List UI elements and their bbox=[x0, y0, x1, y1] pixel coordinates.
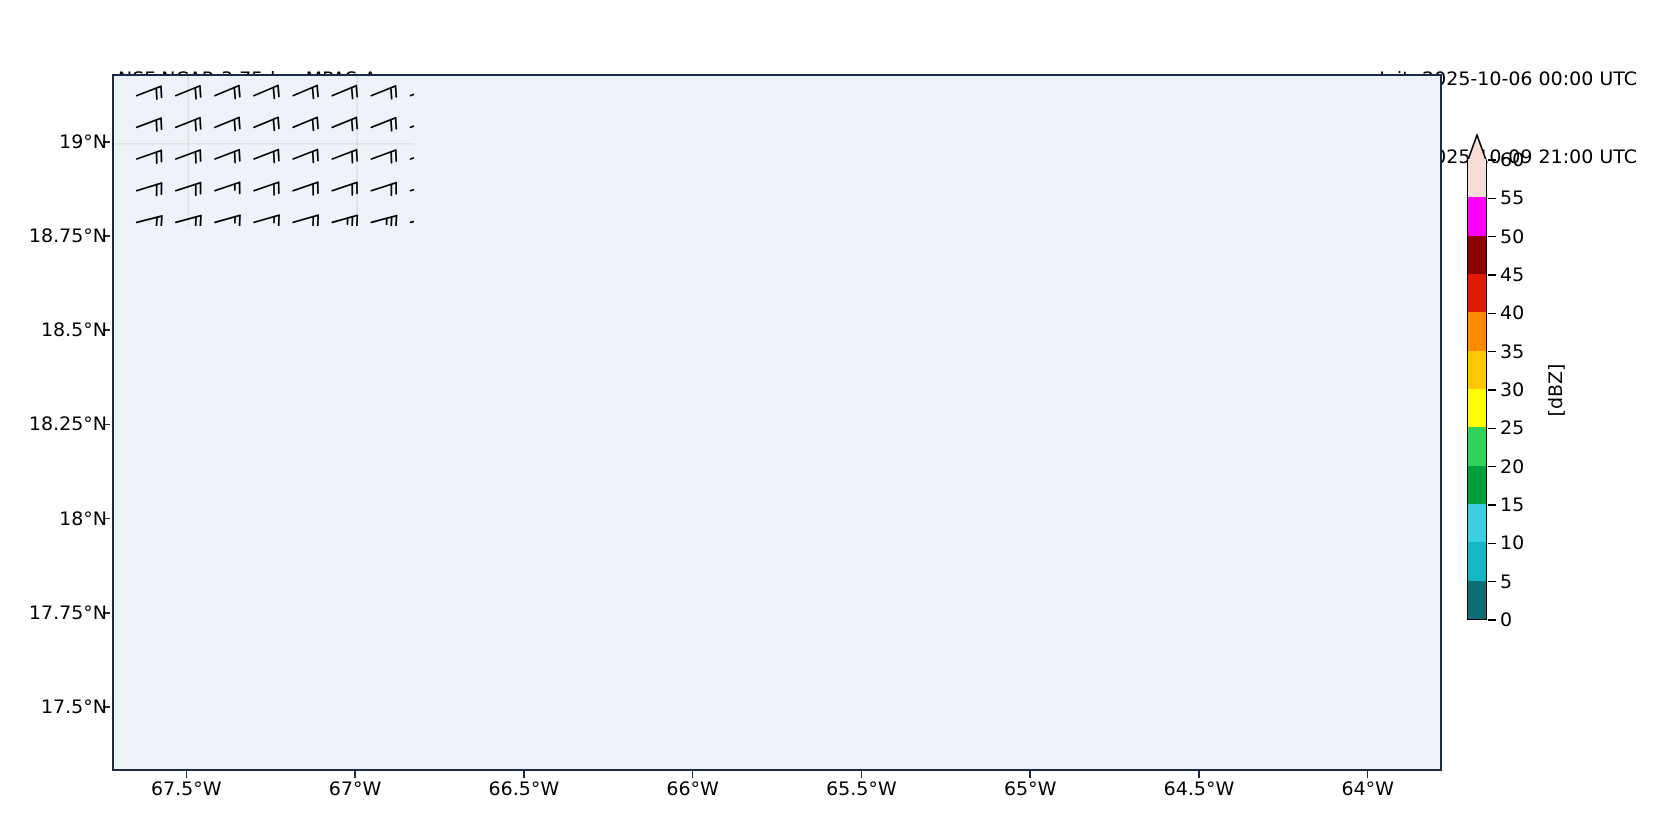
x-axis-tick bbox=[1367, 771, 1369, 778]
wind-barb bbox=[332, 215, 357, 226]
colorbar-tick bbox=[1488, 504, 1496, 506]
wind-barb bbox=[371, 118, 396, 131]
y-axis-label: 17.5°N bbox=[41, 696, 107, 718]
colorbar-tick-label: 25 bbox=[1500, 417, 1524, 439]
wind-barb bbox=[411, 151, 414, 164]
colorbar-tick-label: 20 bbox=[1500, 456, 1524, 478]
x-axis-label: 67°W bbox=[329, 778, 381, 800]
wind-barb bbox=[371, 216, 396, 226]
colorbar-tick bbox=[1488, 198, 1496, 200]
colorbar-tick bbox=[1488, 389, 1496, 391]
x-axis-tick bbox=[1198, 771, 1200, 778]
colorbar-segment bbox=[1468, 351, 1486, 389]
y-axis-label: 18.75°N bbox=[29, 225, 107, 247]
wind-barb bbox=[293, 182, 318, 195]
x-axis-label: 67.5°W bbox=[151, 778, 222, 800]
wind-barb bbox=[332, 150, 357, 163]
x-axis-tick bbox=[861, 771, 863, 778]
colorbar-tick-label: 35 bbox=[1500, 341, 1524, 363]
colorbar-tick bbox=[1488, 581, 1496, 583]
colorbar-tick bbox=[1488, 466, 1496, 468]
wind-barb bbox=[371, 86, 396, 99]
wind-barb bbox=[411, 183, 414, 195]
colorbar-tick-label: 40 bbox=[1500, 302, 1524, 324]
wind-barb bbox=[176, 118, 201, 131]
x-axis-label: 64°W bbox=[1342, 778, 1394, 800]
wind-barb bbox=[215, 150, 240, 163]
x-axis-tick bbox=[354, 771, 356, 778]
wind-barb bbox=[137, 150, 162, 163]
colorbar-tick bbox=[1488, 313, 1496, 315]
colorbar-tick bbox=[1488, 543, 1496, 545]
wind-barb bbox=[411, 216, 414, 226]
colorbar-tick-label: 0 bbox=[1500, 609, 1512, 631]
wind-barb bbox=[176, 150, 201, 163]
colorbar-segment bbox=[1468, 581, 1486, 619]
wind-barb bbox=[293, 86, 318, 99]
map-plot-area[interactable] bbox=[112, 74, 1442, 771]
colorbar-tick bbox=[1488, 428, 1496, 430]
colorbar-over-arrow bbox=[1467, 134, 1487, 161]
x-axis-label: 65°W bbox=[1004, 778, 1056, 800]
colorbar-tick-label: 50 bbox=[1500, 226, 1524, 248]
wind-barb bbox=[215, 86, 240, 99]
x-axis-tick bbox=[1029, 771, 1031, 778]
colorbar-segment bbox=[1468, 466, 1486, 504]
x-axis-label: 65.5°W bbox=[826, 778, 897, 800]
y-axis-label: 18.5°N bbox=[41, 319, 107, 341]
colorbar-tick-label: 55 bbox=[1500, 187, 1524, 209]
colorbar-segment bbox=[1468, 159, 1486, 197]
wind-barb bbox=[215, 182, 240, 193]
wind-barb bbox=[332, 118, 357, 131]
y-axis-label: 18.25°N bbox=[29, 413, 107, 435]
colorbar-tick bbox=[1488, 236, 1496, 238]
wind-barb bbox=[332, 182, 357, 195]
wind-barb bbox=[293, 150, 318, 163]
x-axis-tick bbox=[523, 771, 525, 778]
colorbar-tick bbox=[1488, 274, 1496, 276]
wind-barb-field bbox=[114, 76, 414, 226]
y-axis-label: 18°N bbox=[59, 508, 107, 530]
wind-barb bbox=[176, 86, 201, 99]
colorbar-segment bbox=[1468, 542, 1486, 580]
wind-barb bbox=[371, 150, 396, 163]
colorbar-tick bbox=[1488, 351, 1496, 353]
colorbar-tick-label: 15 bbox=[1500, 494, 1524, 516]
wind-barb bbox=[176, 216, 201, 226]
colorbar-segment bbox=[1468, 274, 1486, 312]
wind-barb bbox=[254, 150, 279, 163]
colorbar-segment bbox=[1468, 197, 1486, 235]
colorbar-tick-label: 60 bbox=[1500, 149, 1524, 171]
x-axis-tick bbox=[186, 771, 188, 778]
wind-barb bbox=[137, 118, 162, 131]
wind-barb bbox=[215, 215, 240, 226]
colorbar-tick-label: 45 bbox=[1500, 264, 1524, 286]
wind-barb bbox=[411, 118, 414, 129]
colorbar-tick bbox=[1488, 159, 1496, 161]
x-axis-label: 66°W bbox=[666, 778, 718, 800]
colorbar-tick-label: 5 bbox=[1500, 571, 1512, 593]
wind-barb bbox=[137, 216, 162, 226]
colorbar-tick bbox=[1488, 619, 1496, 621]
colorbar-segment bbox=[1468, 504, 1486, 542]
wind-barb bbox=[254, 182, 279, 195]
colorbar-unit-label: [dBZ] bbox=[1545, 364, 1567, 417]
reflectivity-colorbar[interactable] bbox=[1467, 160, 1487, 620]
x-axis-label: 66.5°W bbox=[489, 778, 560, 800]
y-axis-label: 19°N bbox=[59, 131, 107, 153]
wind-barb bbox=[137, 86, 162, 99]
wind-barb bbox=[215, 117, 240, 130]
colorbar-segment bbox=[1468, 389, 1486, 427]
wind-barb bbox=[411, 86, 414, 97]
wind-barb bbox=[254, 85, 279, 98]
wind-barb bbox=[254, 215, 279, 226]
wind-barb bbox=[176, 183, 201, 196]
wind-barb bbox=[332, 86, 357, 99]
x-axis-label: 64.5°W bbox=[1164, 778, 1235, 800]
colorbar-segment bbox=[1468, 312, 1486, 350]
wind-barb bbox=[254, 117, 279, 130]
colorbar-tick-label: 30 bbox=[1500, 379, 1524, 401]
wind-barb bbox=[293, 117, 318, 130]
x-axis-tick bbox=[692, 771, 694, 778]
colorbar-segment bbox=[1468, 427, 1486, 465]
wind-barb bbox=[371, 183, 396, 196]
y-axis-label: 17.75°N bbox=[29, 602, 107, 624]
wind-barb bbox=[293, 215, 318, 226]
colorbar-tick-label: 10 bbox=[1500, 532, 1524, 554]
wind-barb bbox=[137, 183, 162, 196]
colorbar-segment bbox=[1468, 236, 1486, 274]
